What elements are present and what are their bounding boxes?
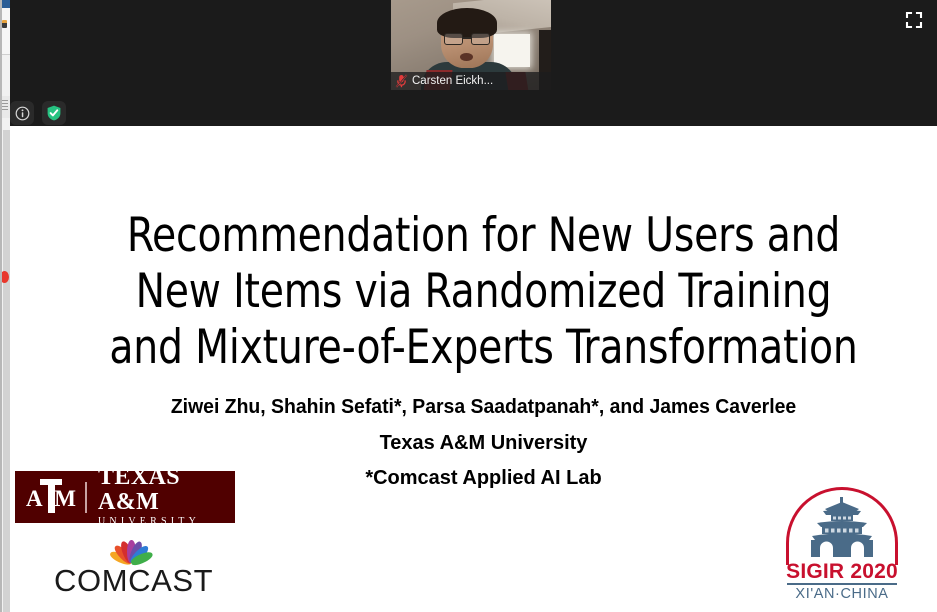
texas-am-mark-icon: A M [24,478,78,516]
comcast-logo: COMCAST [54,538,204,596]
microphone-muted-icon [395,74,408,88]
sigir-subtitle: XI'AN·CHINA [781,585,903,603]
background-scrollbar[interactable] [3,130,10,612]
background-window-edge [0,0,2,612]
tamu-letter-m: M [54,487,76,510]
video-person-mouth [460,53,473,61]
slide-authors: Ziwei Zhu, Shahin Sefati*, Parsa Saadatp… [34,396,933,419]
tamu-name: TEXAS A&M [98,465,235,515]
comcast-wordmark: COMCAST [54,564,204,597]
texas-am-logo: A M TEXAS A&M UNIVERSITY [15,471,235,523]
sigir-logo: SIGIR 2020 XI'AN·CHINA [781,487,903,603]
shield-check-icon [46,105,62,121]
video-window-light [494,34,530,67]
presenter-name-bar: Carsten Eickh... [391,72,551,90]
fullscreen-icon [905,11,923,29]
fullscreen-button[interactable] [900,6,928,34]
xian-pagoda-icon [805,497,879,562]
nbc-peacock-icon [102,538,156,563]
tamu-wordmark: TEXAS A&M UNIVERSITY [98,465,235,529]
slide-affiliation-primary: Texas A&M University [20,432,937,455]
tamu-divider [85,482,87,513]
info-icon [15,106,30,121]
background-toolbar-icon [2,20,7,28]
meeting-info-button[interactable] [10,101,34,125]
video-person-glasses [444,33,490,43]
presenter-name-label: Carsten Eickh... [412,75,493,87]
sigir-title: SIGIR 2020 [781,560,903,583]
background-list-icon [1,100,8,110]
tamu-subtitle: UNIVERSITY [98,515,235,529]
background-browser-window[interactable] [0,0,10,612]
page-title: Recommendation for New Users and New Ite… [52,208,914,376]
meeting-security-button[interactable] [42,101,66,125]
meeting-status-icons [10,101,66,125]
presenter-video-tile[interactable]: Carsten Eickh... [391,0,551,90]
